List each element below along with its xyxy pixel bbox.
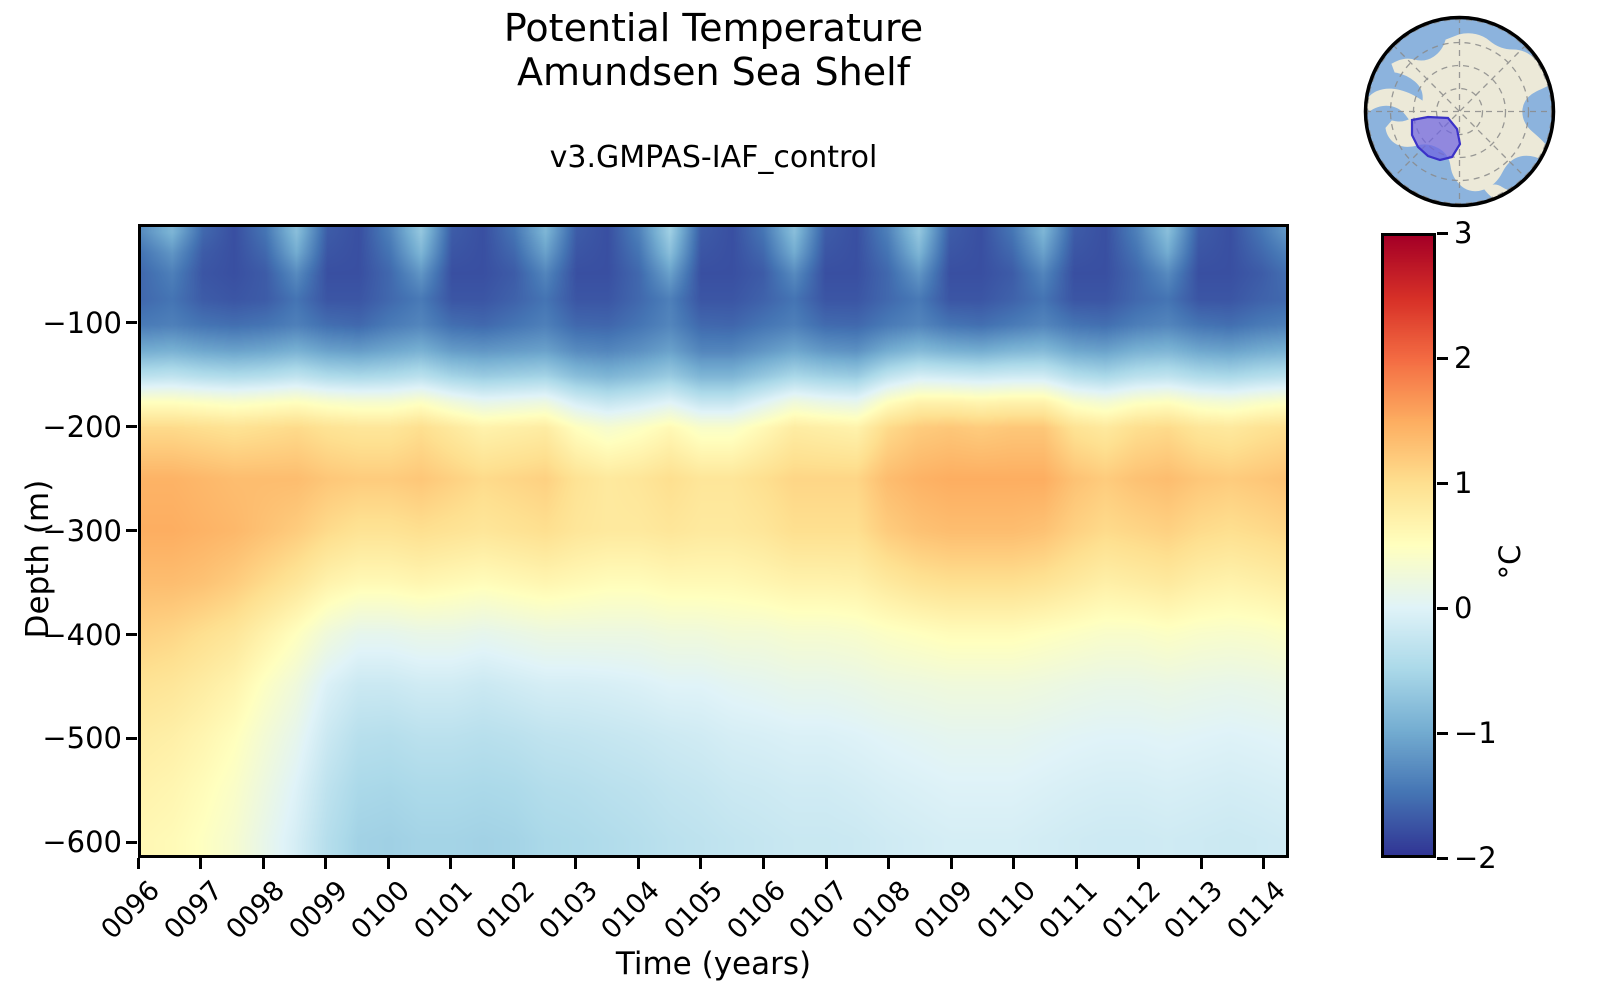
x-tick-mark xyxy=(137,858,140,869)
heatmap-image xyxy=(141,227,1286,855)
x-tick-mark xyxy=(1012,858,1015,869)
heatmap-plot-area xyxy=(138,224,1289,858)
colorbar-gradient xyxy=(1384,236,1433,855)
y-tick-label: −500 xyxy=(42,721,122,755)
x-tick-mark xyxy=(637,858,640,869)
y-axis-label: Depth (m) xyxy=(20,439,56,679)
colorbar-tick-mark xyxy=(1437,482,1448,485)
y-tick-mark xyxy=(126,737,137,740)
colorbar-tick-label: 2 xyxy=(1454,341,1472,375)
x-tick-mark xyxy=(1200,858,1203,869)
x-axis-label: Time (years) xyxy=(138,946,1289,982)
colorbar xyxy=(1381,233,1436,858)
x-tick-mark xyxy=(825,858,828,869)
x-tick-mark xyxy=(262,858,265,869)
y-tick-label: −100 xyxy=(42,306,122,340)
y-tick-mark xyxy=(126,321,137,324)
x-tick-mark xyxy=(574,858,577,869)
x-tick-mark xyxy=(1075,858,1078,869)
x-tick-mark xyxy=(762,858,765,869)
y-tick-mark xyxy=(126,633,137,636)
x-tick-mark xyxy=(387,858,390,869)
colorbar-label: °C xyxy=(1493,482,1527,642)
x-tick-mark xyxy=(1137,858,1140,869)
x-tick-mark xyxy=(887,858,890,869)
x-tick-mark xyxy=(324,858,327,869)
figure-subtitle: v3.GMPAS-IAF_control xyxy=(138,140,1289,175)
y-tick-mark xyxy=(126,841,137,844)
x-tick-mark xyxy=(199,858,202,869)
colorbar-tick-mark xyxy=(1437,607,1448,610)
colorbar-tick-mark xyxy=(1437,232,1448,235)
x-tick-mark xyxy=(512,858,515,869)
y-tick-label: −600 xyxy=(42,825,122,859)
y-tick-mark xyxy=(126,425,137,428)
title-line-2: Amundsen Sea Shelf xyxy=(138,50,1289,94)
x-tick-mark xyxy=(449,858,452,869)
antarctica-locator-map xyxy=(1356,8,1563,215)
colorbar-tick-label: −1 xyxy=(1454,716,1497,750)
x-tick-mark xyxy=(699,858,702,869)
colorbar-tick-label: −2 xyxy=(1454,841,1497,875)
colorbar-tick-mark xyxy=(1437,357,1448,360)
y-tick-mark xyxy=(126,529,137,532)
figure-title: Potential Temperature Amundsen Sea Shelf xyxy=(138,6,1289,94)
colorbar-tick-label: 3 xyxy=(1454,216,1472,250)
colorbar-tick-mark xyxy=(1437,732,1448,735)
x-tick-mark xyxy=(1262,858,1265,869)
colorbar-tick-mark xyxy=(1437,857,1448,860)
colorbar-tick-label: 1 xyxy=(1454,466,1472,500)
x-tick-mark xyxy=(950,858,953,869)
title-line-1: Potential Temperature xyxy=(138,6,1289,50)
colorbar-tick-label: 0 xyxy=(1454,591,1472,625)
